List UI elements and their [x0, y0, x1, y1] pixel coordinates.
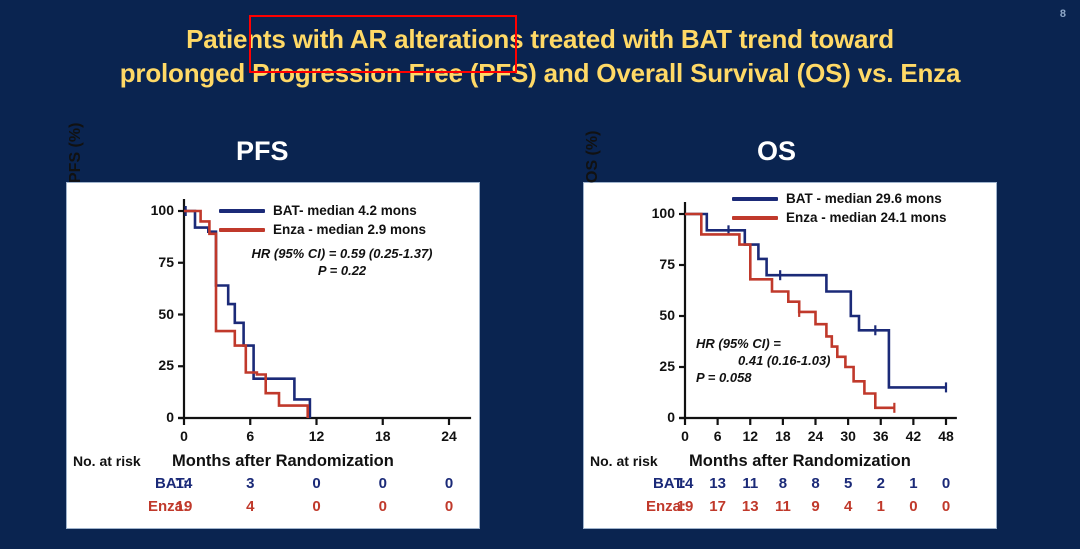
legend-item: Enza - median 2.9 mons: [219, 220, 426, 239]
risk-value: 14: [164, 475, 204, 492]
legend-swatch-icon: [219, 228, 265, 232]
y-axis-title-os: OS (%): [584, 0, 602, 183]
chart-heading-os: OS: [757, 136, 796, 167]
stats-os: HR (95% CI) =0.41 (0.16-1.03)P = 0.058: [696, 335, 916, 386]
y-tick-label: 100: [629, 205, 675, 221]
stat-annotation: 0.41 (0.16-1.03): [696, 352, 916, 369]
legend-swatch-icon: [732, 197, 778, 201]
y-tick-label: 75: [128, 254, 174, 270]
risk-value: 0: [926, 498, 966, 515]
risk-value: 19: [164, 498, 204, 515]
legend-label: Enza - median 24.1 mons: [786, 210, 947, 225]
y-tick-label: 25: [629, 358, 675, 374]
x-tick-label: 24: [429, 428, 469, 444]
stat-annotation: HR (95% CI) =: [696, 335, 916, 352]
stats-pfs: HR (95% CI) = 0.59 (0.25-1.37)P = 0.22: [217, 245, 467, 279]
legend-item: BAT - median 29.6 mons: [732, 189, 947, 208]
y-tick-label: 50: [128, 306, 174, 322]
risk-value: 0: [926, 475, 966, 492]
legend-item: BAT- median 4.2 mons: [219, 201, 426, 220]
risk-value: 4: [230, 498, 270, 515]
y-tick-label: 100: [128, 202, 174, 218]
slide-number: 8: [1060, 8, 1066, 20]
risk-value: 0: [363, 498, 403, 515]
legend-swatch-icon: [732, 216, 778, 220]
y-tick-label: 75: [629, 256, 675, 272]
risk-value: 0: [297, 475, 337, 492]
legend-pfs: BAT- median 4.2 monsEnza - median 2.9 mo…: [219, 201, 426, 239]
risk-value: 0: [429, 498, 469, 515]
legend-swatch-icon: [219, 209, 265, 213]
legend-label: BAT - median 29.6 mons: [786, 191, 942, 206]
legend-os: BAT - median 29.6 monsEnza - median 24.1…: [732, 189, 947, 227]
legend-item: Enza - median 24.1 mons: [732, 208, 947, 227]
page-title: Patients with AR alterations treated wit…: [0, 22, 1080, 90]
x-tick-label: 0: [164, 428, 204, 444]
chart-heading-pfs: PFS: [236, 136, 289, 167]
legend-label: BAT- median 4.2 mons: [273, 203, 417, 218]
x-tick-label: 18: [363, 428, 403, 444]
y-tick-label: 25: [128, 357, 174, 373]
y-tick-label: 0: [629, 409, 675, 425]
title-line-2: prolonged Progression Free (PFS) and Ove…: [0, 56, 1080, 90]
x-tick-label: 12: [297, 428, 337, 444]
risk-value: 0: [297, 498, 337, 515]
x-tick-label: 6: [230, 428, 270, 444]
risk-value: 3: [230, 475, 270, 492]
legend-label: Enza - median 2.9 mons: [273, 222, 426, 237]
x-axis-title-os: Months after Randomization: [689, 452, 911, 471]
x-axis-title-pfs: Months after Randomization: [172, 452, 394, 471]
x-tick-label: 48: [926, 428, 966, 444]
risk-table-header-os: No. at risk: [590, 453, 658, 469]
title-line-1: Patients with AR alterations treated wit…: [0, 22, 1080, 56]
y-tick-label: 50: [629, 307, 675, 323]
stat-annotation: P = 0.058: [696, 369, 916, 386]
risk-value: 0: [363, 475, 403, 492]
y-tick-label: 0: [128, 409, 174, 425]
chart-panel-os: OS (%) BAT - median 29.6 monsEnza - medi…: [583, 182, 997, 529]
risk-value: 0: [429, 475, 469, 492]
chart-panel-pfs: PFS (%) BAT- median 4.2 monsEnza - media…: [66, 182, 480, 529]
stat-annotation: P = 0.22: [217, 262, 467, 279]
stat-annotation: HR (95% CI) = 0.59 (0.25-1.37): [217, 245, 467, 262]
y-axis-title-pfs: PFS (%): [67, 0, 85, 183]
risk-table-header-pfs: No. at risk: [73, 453, 141, 469]
